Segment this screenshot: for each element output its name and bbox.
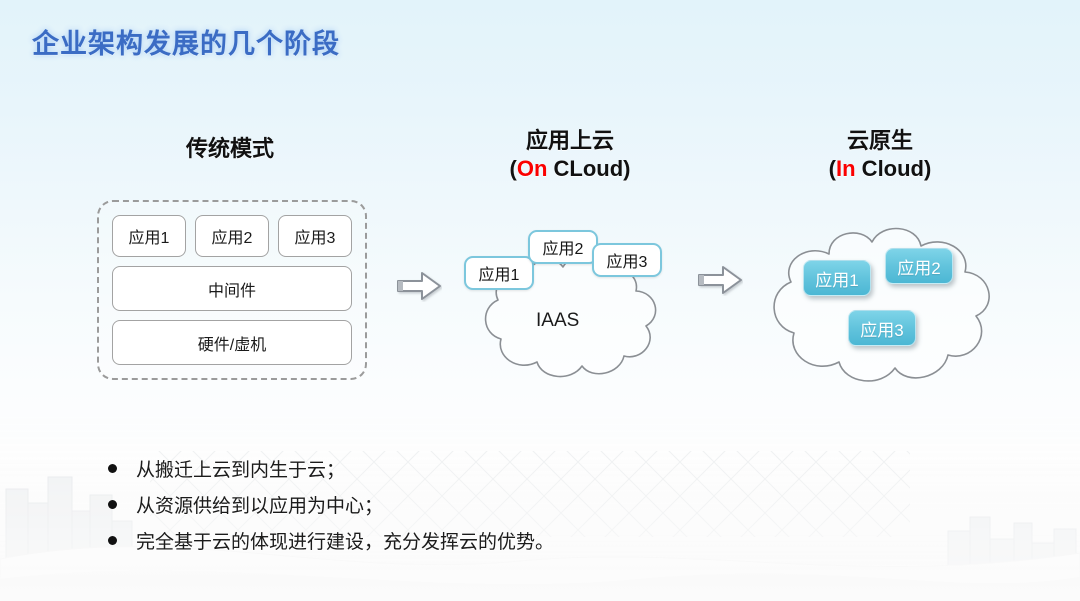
bullet-list: 从搬迁上云到内生于云； 从资源供给到以应用为中心； 完全基于云的体现进行建设，充… — [108, 452, 808, 560]
traditional-stack: 应用1 应用2 应用3 中间件 硬件/虚机 — [112, 215, 352, 365]
bullet-dot-icon — [108, 536, 117, 545]
panel-traditional-title: 传统模式 — [75, 136, 385, 162]
bullet-dot-icon — [108, 500, 117, 509]
iaas-label: IAAS — [536, 310, 579, 332]
page-title: 企业架构发展的几个阶段 — [32, 22, 340, 61]
oncloud-app-3[interactable]: 应用3 — [592, 243, 662, 277]
panel-cloud-native: 云原生 (In Cloud) 应用1 应用2 应用3 — [735, 128, 1025, 182]
native-app-2[interactable]: 应用2 — [885, 248, 953, 284]
bullet-text-2: 从资源供给到以应用为中心； — [136, 491, 383, 518]
panel-traditional: 传统模式 应用1 应用2 应用3 中间件 硬件/虚机 — [75, 128, 385, 162]
arrow-right-icon-2 — [697, 264, 743, 296]
arrow-right-icon-1 — [396, 270, 442, 302]
traditional-app-1[interactable]: 应用1 — [112, 215, 186, 257]
oncloud-app-1[interactable]: 应用1 — [464, 256, 534, 290]
traditional-stack-container: 应用1 应用2 应用3 中间件 硬件/虚机 — [97, 200, 367, 380]
list-item: 从资源供给到以应用为中心； — [108, 488, 808, 521]
list-item: 从搬迁上云到内生于云； — [108, 452, 808, 485]
cloud-shape-native — [757, 216, 1012, 388]
oncloud-app-2[interactable]: 应用2 — [528, 230, 598, 264]
native-graphic: 应用1 应用2 应用3 — [735, 128, 1025, 182]
oncloud-graphic: IAAS 应用1 应用2 应用3 — [432, 128, 708, 182]
traditional-hardware[interactable]: 硬件/虚机 — [112, 320, 352, 365]
bullet-text-1: 从搬迁上云到内生于云； — [136, 455, 345, 482]
traditional-app-row: 应用1 应用2 应用3 — [112, 215, 352, 257]
traditional-app-3[interactable]: 应用3 — [278, 215, 352, 257]
native-app-3[interactable]: 应用3 — [848, 310, 916, 346]
stages-diagram: 传统模式 应用1 应用2 应用3 中间件 硬件/虚机 — [0, 128, 1080, 398]
slide-root: 企业架构发展的几个阶段 传统模式 应用1 应用2 应用3 中间件 硬件/虚机 — [0, 0, 1080, 601]
panel-traditional-heading: 传统模式 — [75, 128, 385, 162]
list-item: 完全基于云的体现进行建设，充分发挥云的优势。 — [108, 524, 808, 557]
traditional-app-2[interactable]: 应用2 — [195, 215, 269, 257]
native-app-1[interactable]: 应用1 — [803, 260, 871, 296]
panel-oncloud: 应用上云 (On CLoud) IAAS 应用1 应用2 应用3 — [432, 128, 708, 182]
bullet-text-3: 完全基于云的体现进行建设，充分发挥云的优势。 — [136, 527, 554, 554]
traditional-middleware[interactable]: 中间件 — [112, 266, 352, 311]
bullet-dot-icon — [108, 464, 117, 473]
